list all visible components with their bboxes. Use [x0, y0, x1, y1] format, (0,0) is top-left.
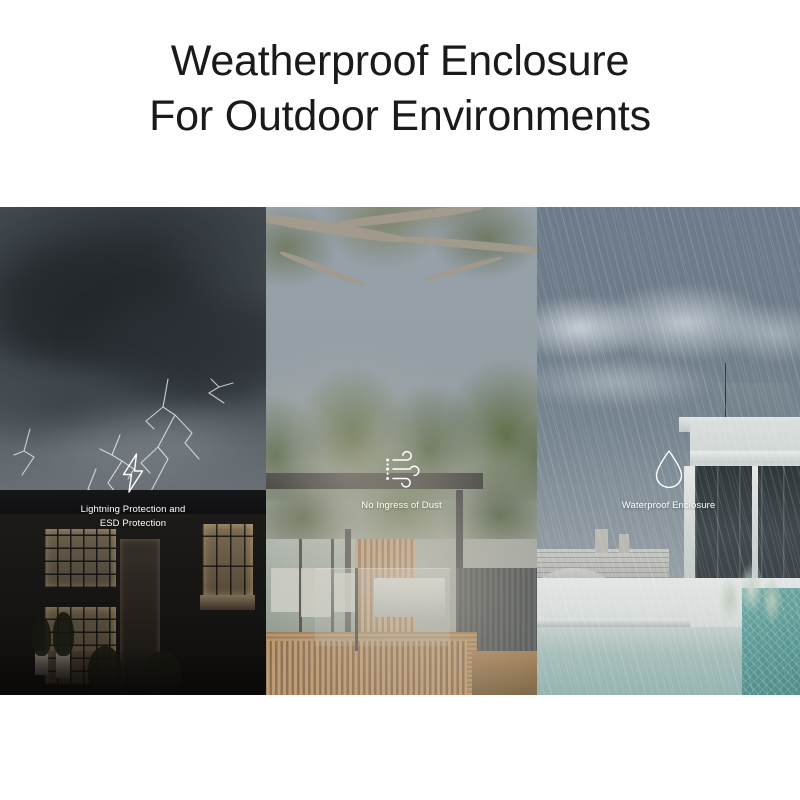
page-root: Weatherproof Enclosure For Outdoor Envir…	[0, 0, 800, 800]
feature-panel-lightning: Lightning Protection and ESD Protection	[0, 207, 266, 695]
feature-panel-waterproof: Waterproof Enclosure	[537, 207, 800, 695]
storm-scene-image	[0, 207, 266, 695]
rainfall-overlay-back	[537, 207, 800, 695]
page-title: Weatherproof Enclosure For Outdoor Envir…	[0, 34, 800, 144]
feature-panel-strip: Lightning Protection and ESD Protection	[0, 207, 800, 695]
dust-scene-image	[266, 207, 537, 695]
rain-scene-image	[537, 207, 800, 695]
feature-panel-dust: No Ingress of Dust	[266, 207, 537, 695]
